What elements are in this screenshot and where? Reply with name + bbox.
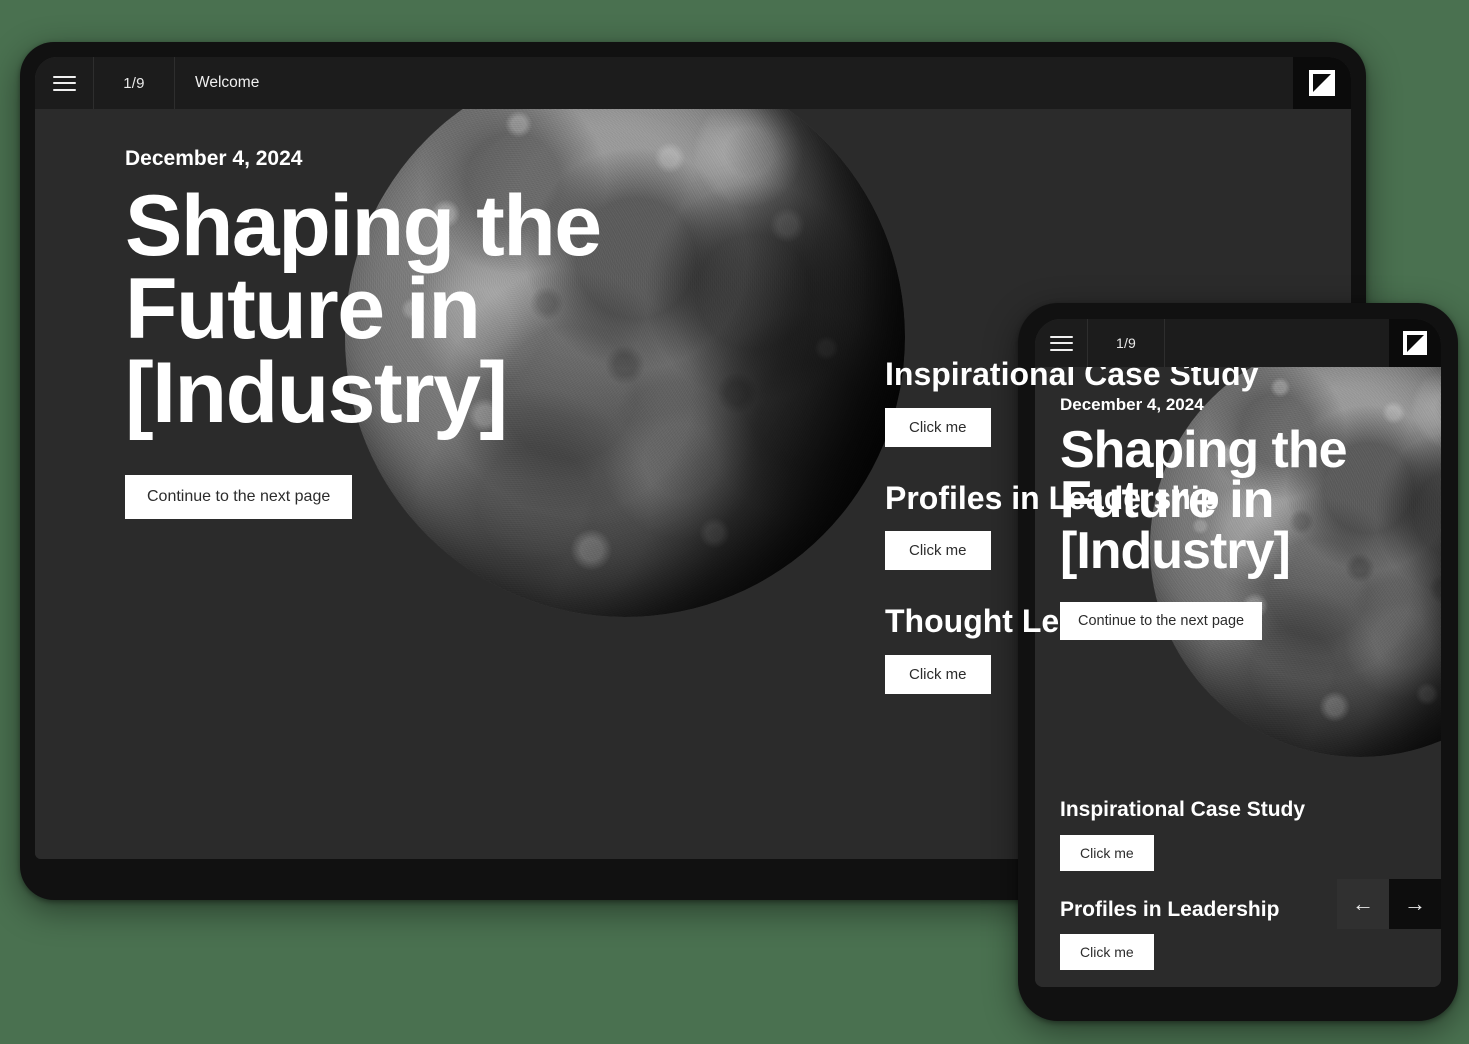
hero-title: Shaping the Future in [Industry] xyxy=(1060,425,1390,576)
click-me-button[interactable]: Click me xyxy=(1060,835,1154,871)
click-me-button[interactable]: Click me xyxy=(1060,934,1154,970)
toolbar-spacer xyxy=(1165,319,1389,367)
list-item: Inspirational Case Study Click me xyxy=(1060,799,1410,871)
section-title: Inspirational Case Study xyxy=(1060,799,1410,822)
mobile-pager-nav: ← → xyxy=(1337,879,1441,929)
brand-logo-button[interactable] xyxy=(1389,319,1441,367)
arrow-left-icon: ← xyxy=(1352,893,1374,915)
brand-logo-button[interactable] xyxy=(1293,57,1351,109)
click-me-button[interactable]: Click me xyxy=(885,655,991,694)
desktop-hero-block: December 4, 2024 Shaping the Future in [… xyxy=(125,147,645,519)
triangle-square-logo-icon xyxy=(1403,331,1427,355)
click-me-button[interactable]: Click me xyxy=(885,408,991,447)
hero-title: Shaping the Future in [Industry] xyxy=(125,185,645,435)
slide-title: Welcome xyxy=(175,57,277,109)
arrow-right-icon: → xyxy=(1404,893,1426,915)
next-page-button[interactable]: → xyxy=(1389,879,1441,929)
continue-button[interactable]: Continue to the next page xyxy=(125,475,352,519)
previous-page-button[interactable]: ← xyxy=(1337,879,1389,929)
hero-date: December 4, 2024 xyxy=(1060,395,1390,415)
toolbar-spacer xyxy=(277,57,1293,109)
hamburger-icon xyxy=(53,76,76,91)
click-me-button[interactable]: Click me xyxy=(885,531,991,570)
menu-button[interactable] xyxy=(35,57,93,109)
hero-date: December 4, 2024 xyxy=(125,147,645,171)
menu-button[interactable] xyxy=(1035,319,1087,367)
continue-button[interactable]: Continue to the next page xyxy=(1060,602,1262,640)
triangle-square-logo-icon xyxy=(1309,70,1335,96)
mobile-hero-block: December 4, 2024 Shaping the Future in [… xyxy=(1060,395,1390,640)
desktop-toolbar: 1/9 Welcome xyxy=(35,57,1351,109)
hamburger-icon xyxy=(1050,336,1073,351)
page-counter: 1/9 xyxy=(93,57,175,109)
mobile-toolbar: 1/9 xyxy=(1035,319,1441,367)
page-counter: 1/9 xyxy=(1087,319,1165,367)
